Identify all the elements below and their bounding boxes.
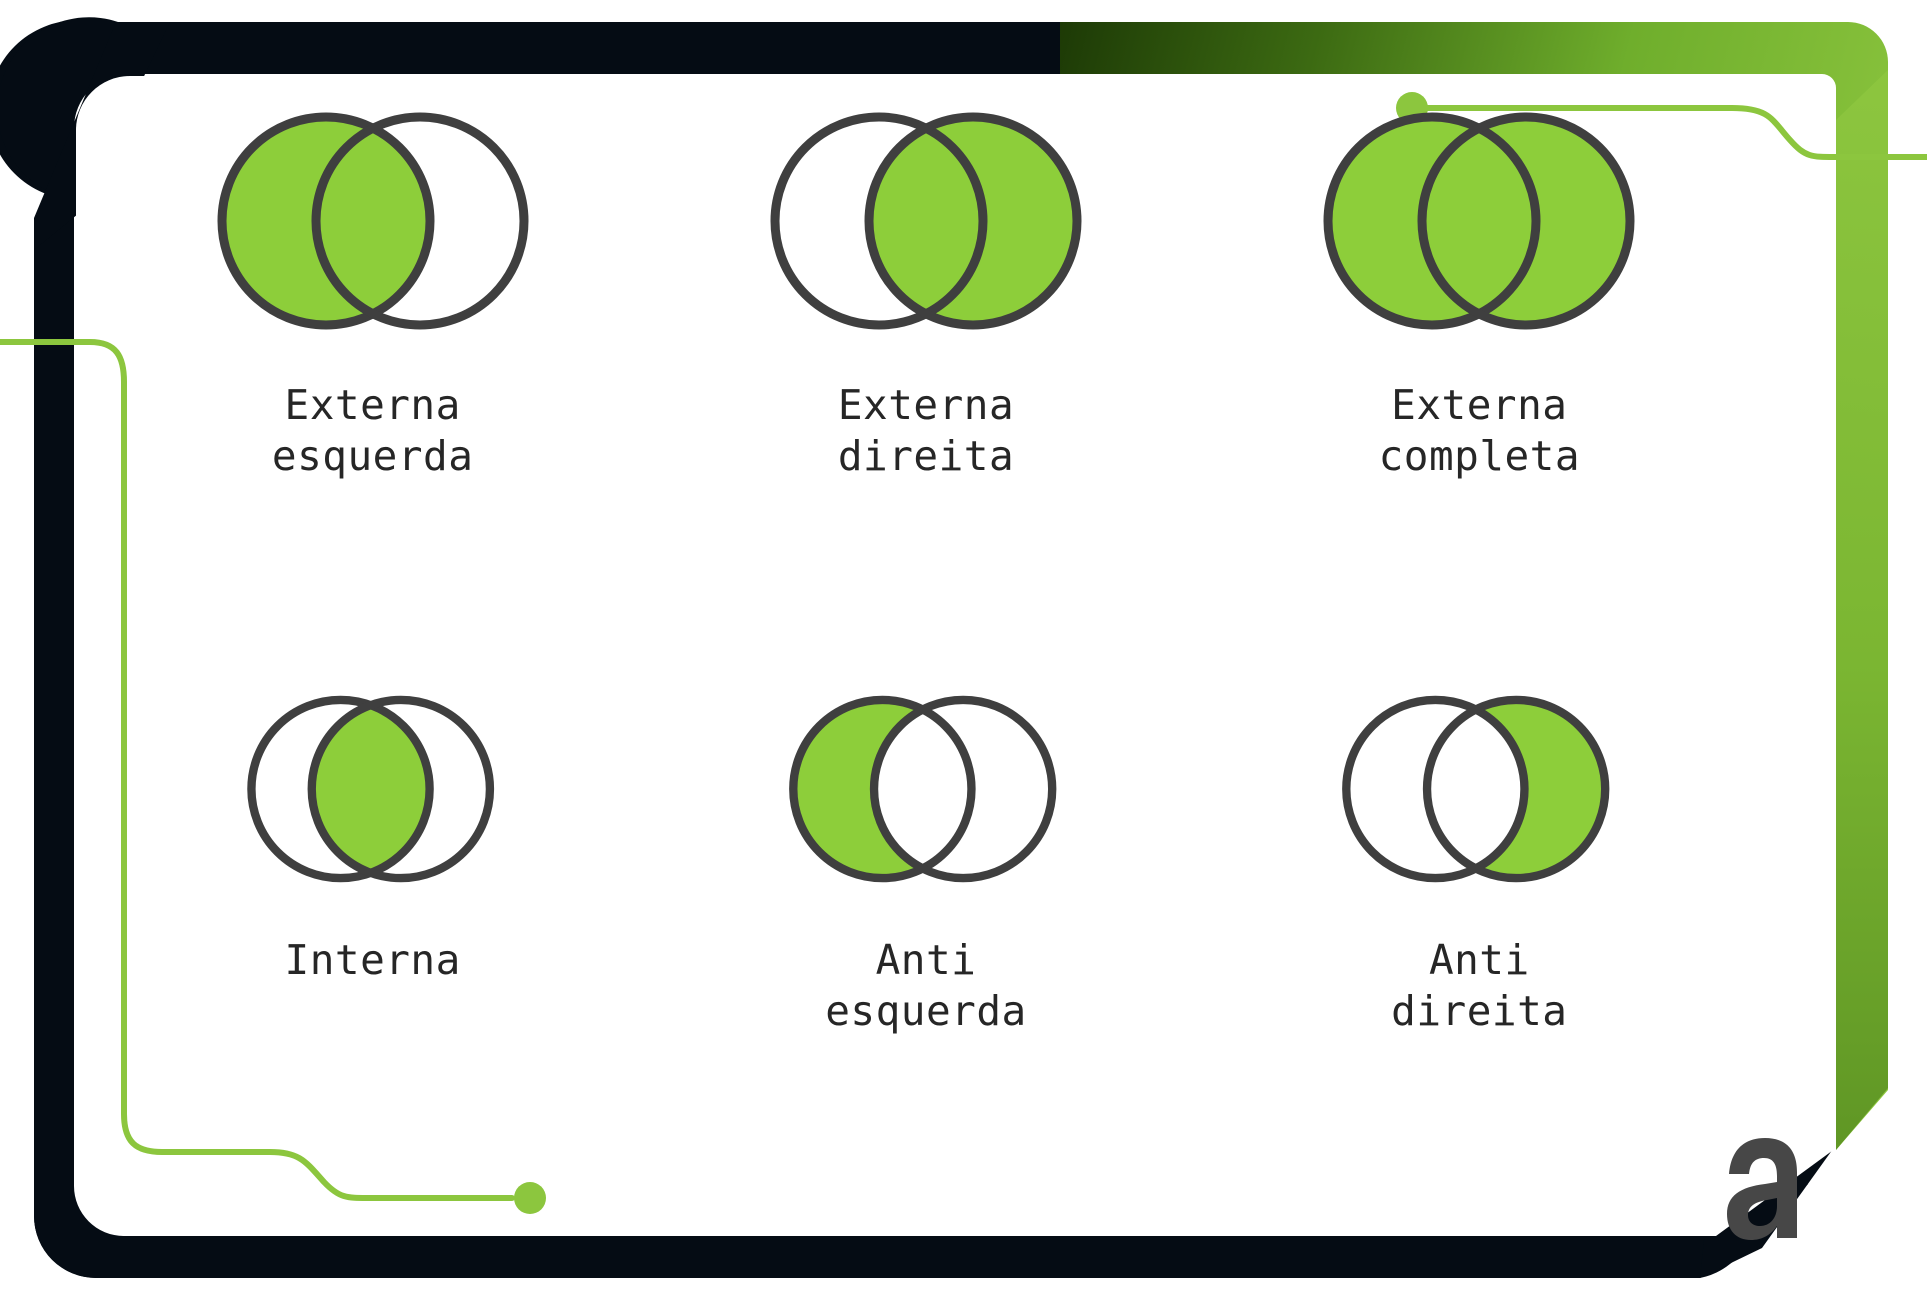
venn-diagram-externa-completa: [1264, 96, 1694, 346]
venn-diagram-anti-esquerda: [726, 673, 1126, 905]
venn-card-anti-esquerda[interactable]: Anti esquerda: [649, 673, 1202, 1037]
venn-diagram-interna: [173, 673, 573, 905]
venn-diagram-externa-esquerda: [158, 96, 588, 346]
venn-card-externa-completa[interactable]: Externa completa: [1203, 96, 1756, 482]
venn-label-externa-completa: Externa completa: [1379, 380, 1580, 482]
venn-label-externa-direita: Externa direita: [838, 380, 1014, 482]
frame-accent-right: [1836, 70, 1888, 1150]
venn-card-anti-direita[interactable]: Anti direita: [1203, 673, 1756, 1037]
venn-label-interna: Interna: [285, 935, 461, 986]
brand-logo-a-icon: [1725, 1132, 1805, 1244]
venn-label-anti-esquerda: Anti esquerda: [825, 935, 1026, 1037]
venn-grid: Externa esquerda Externa direita Externa…: [96, 96, 1756, 1206]
venn-diagram-externa-direita: [711, 96, 1141, 346]
venn-diagram-anti-direita: [1279, 673, 1679, 905]
venn-card-externa-direita[interactable]: Externa direita: [649, 96, 1202, 482]
venn-card-externa-esquerda[interactable]: Externa esquerda: [96, 96, 649, 482]
venn-label-anti-direita: Anti direita: [1391, 935, 1567, 1037]
venn-label-externa-esquerda: Externa esquerda: [272, 380, 473, 482]
venn-card-interna[interactable]: Interna: [96, 673, 649, 986]
slide-canvas: Externa esquerda Externa direita Externa…: [0, 0, 1927, 1314]
